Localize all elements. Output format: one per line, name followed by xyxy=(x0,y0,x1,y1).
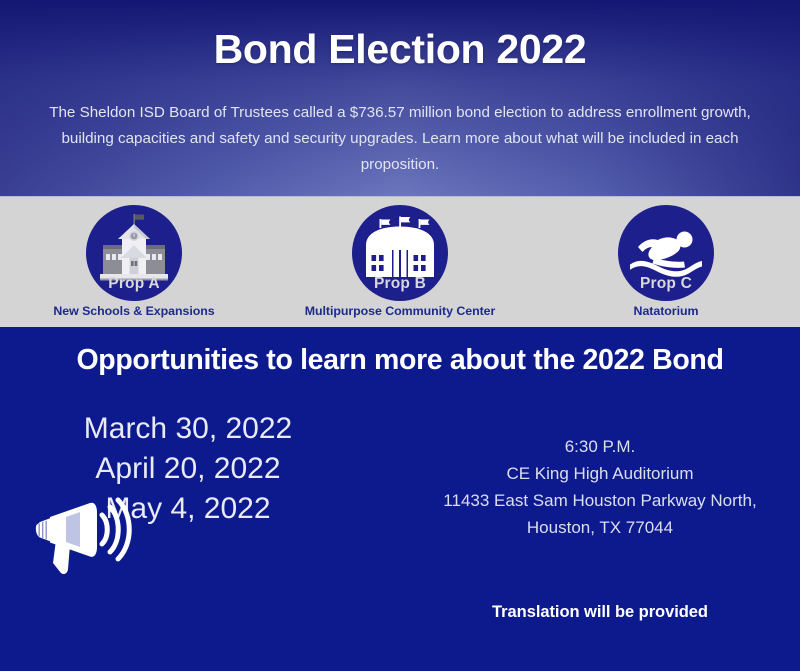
prop-c-label: Natatorium xyxy=(634,304,699,318)
event-details-list: 6:30 P.M. CE King High Auditorium 11433 … xyxy=(400,409,800,541)
prop-b-label: Multipurpose Community Center xyxy=(305,304,496,318)
prop-a-badge-label: Prop A xyxy=(86,275,182,293)
event-date: March 30, 2022 xyxy=(0,409,376,449)
proposition-c[interactable]: Prop C Natatorium xyxy=(533,197,799,318)
event-date: April 20, 2022 xyxy=(0,449,376,489)
prop-c-badge[interactable]: Prop C xyxy=(618,205,714,301)
proposition-b[interactable]: Prop B Multipurpose Community Center xyxy=(267,197,533,318)
header-banner: Bond Election 2022 The Sheldon ISD Board… xyxy=(0,0,800,196)
prop-b-badge[interactable]: Prop B xyxy=(352,205,448,301)
translation-note: Translation will be provided xyxy=(400,603,800,622)
bond-election-poster: Bond Election 2022 The Sheldon ISD Board… xyxy=(0,0,800,671)
event-address-line1: 11433 East Sam Houston Parkway North, xyxy=(422,487,778,514)
event-time: 6:30 P.M. xyxy=(422,433,778,460)
event-address-line2: Houston, TX 77044 xyxy=(422,514,778,541)
propositions-strip: Prop A New Schools & Expansions xyxy=(0,196,800,328)
prop-a-badge[interactable]: Prop A xyxy=(86,205,182,301)
prop-a-label: New Schools & Expansions xyxy=(53,304,214,318)
header-description: The Sheldon ISD Board of Trustees called… xyxy=(22,100,778,178)
event-venue: CE King High Auditorium xyxy=(422,460,778,487)
proposition-a[interactable]: Prop A New Schools & Expansions xyxy=(1,197,267,318)
page-title: Bond Election 2022 xyxy=(0,26,800,73)
propositions-row: Prop A New Schools & Expansions xyxy=(0,197,800,328)
megaphone-icon-wrapper xyxy=(22,495,132,580)
megaphone-icon xyxy=(22,495,132,580)
prop-b-badge-label: Prop B xyxy=(352,275,448,293)
events-heading: Opportunities to learn more about the 20… xyxy=(0,344,800,377)
prop-c-badge-label: Prop C xyxy=(618,275,714,293)
